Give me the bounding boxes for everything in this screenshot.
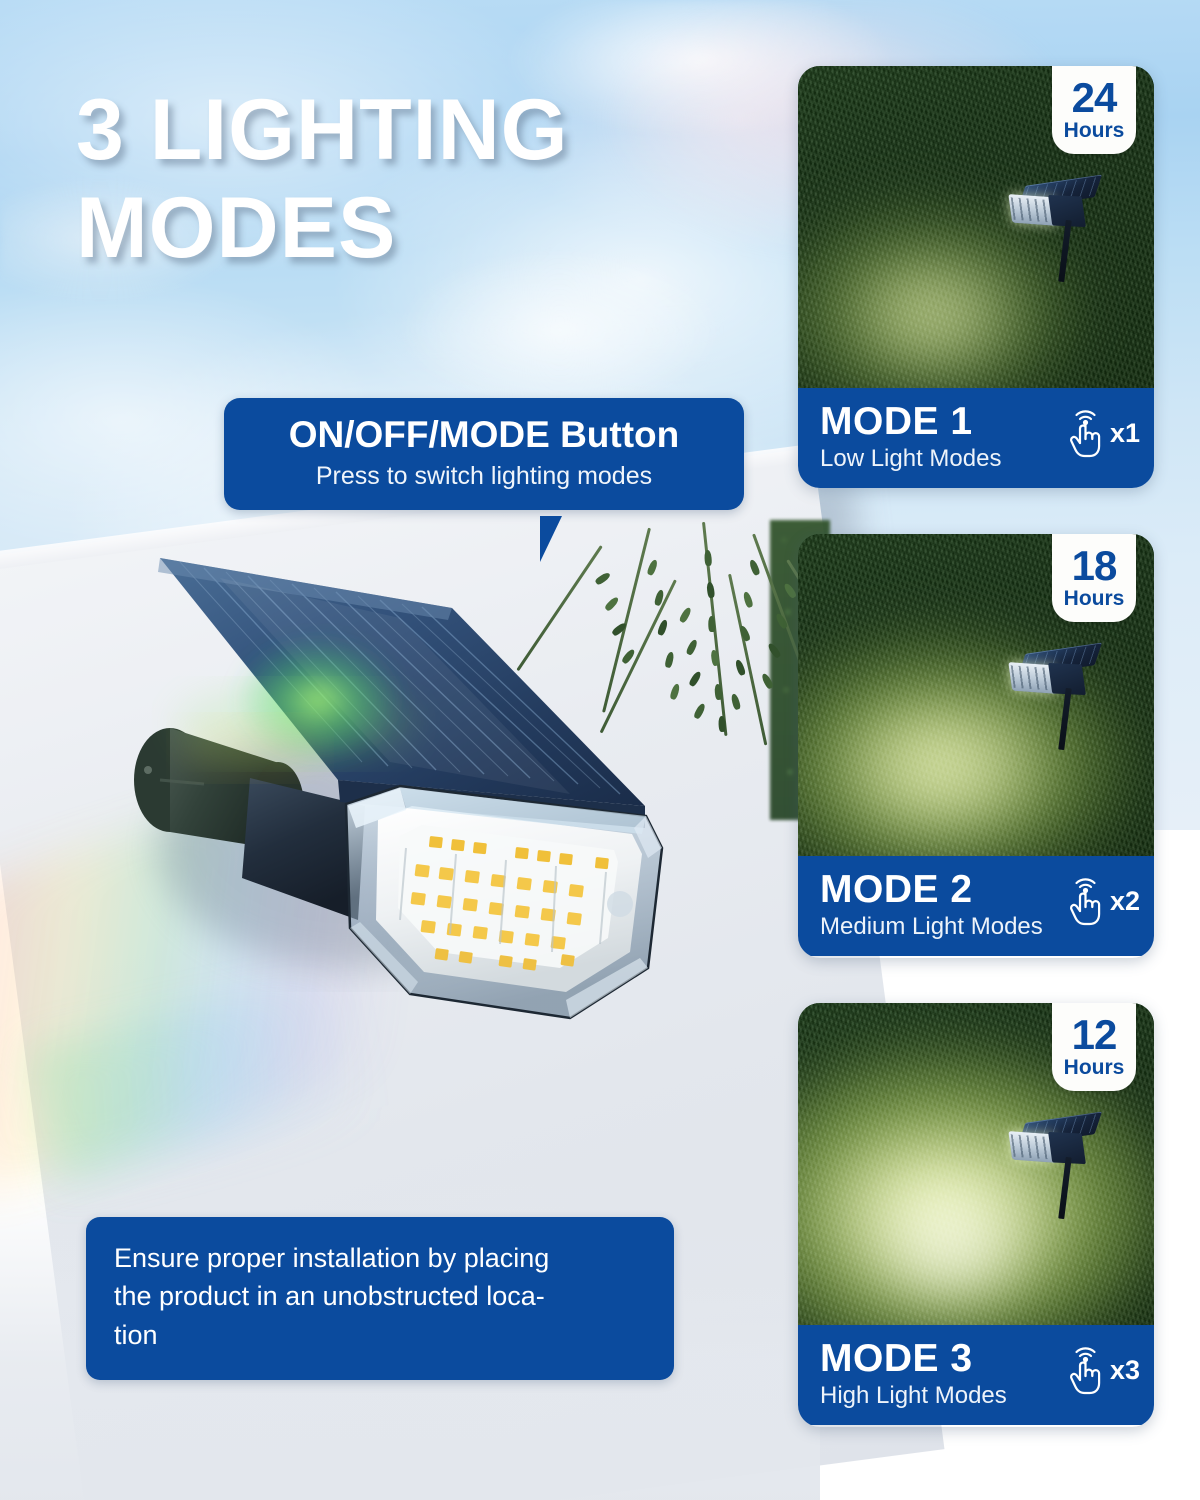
onoff-mode-callout: ON/OFF/MODE Button Press to switch light…	[224, 398, 744, 510]
note-line-3: tion	[114, 1316, 646, 1354]
tap-hand-icon	[1062, 876, 1108, 926]
lawn-photo-mode-2: 18 Hours	[798, 534, 1154, 856]
title-line-2: MODES	[76, 186, 736, 270]
hours-badge-2: 18 Hours	[1052, 534, 1136, 622]
mode-card-3[interactable]: 12 Hours MODE 3 High Light Modes	[798, 1003, 1154, 1427]
fixture-ground-stake	[1058, 220, 1072, 282]
press-count: x2	[1110, 888, 1140, 915]
product-solar-light-image	[100, 548, 720, 1088]
lawn-photo-mode-3: 12 Hours	[798, 1003, 1154, 1325]
title-line-1: 3 LIGHTING	[76, 88, 736, 172]
tap-hand-icon	[1062, 1345, 1108, 1395]
hours-value: 18	[1072, 547, 1117, 586]
mode-label-strip-3: MODE 3 High Light Modes x3	[798, 1325, 1154, 1425]
note-line-1: Ensure proper installation by placing	[114, 1239, 646, 1277]
hours-value: 24	[1072, 79, 1117, 118]
installation-note: Ensure proper installation by placing th…	[86, 1217, 674, 1380]
tap-hand-icon	[1062, 408, 1108, 458]
hours-label: Hours	[1064, 1057, 1125, 1078]
hours-label: Hours	[1064, 120, 1125, 141]
press-count-group-1: x1	[1062, 408, 1140, 458]
callout-subtitle: Press to switch lighting modes	[240, 463, 728, 491]
callout-tail	[540, 516, 570, 562]
press-count: x1	[1110, 420, 1140, 447]
infographic-canvas: 3 LIGHTING MODES ON/OFF/MODE Button Pres…	[0, 0, 1200, 1500]
press-count-group-3: x3	[1062, 1345, 1140, 1395]
spotlight-fixture-icon	[1010, 178, 1102, 288]
callout-title: ON/OFF/MODE Button	[240, 416, 728, 455]
hours-badge-1: 24 Hours	[1052, 66, 1136, 154]
note-line-2: the product in an unobstructed loca-	[114, 1277, 646, 1315]
hours-badge-3: 12 Hours	[1052, 1003, 1136, 1091]
page-title: 3 LIGHTING MODES	[76, 88, 736, 271]
mode-card-2[interactable]: 18 Hours MODE 2 Medium Light Modes	[798, 534, 1154, 958]
press-count-group-2: x2	[1062, 876, 1140, 926]
hours-value: 12	[1072, 1016, 1117, 1055]
led-lens-housing	[346, 786, 662, 1018]
spotlight-fixture-icon	[1010, 646, 1102, 756]
mode-label-strip-1: MODE 1 Low Light Modes x1	[798, 388, 1154, 488]
mode-label-strip-2: MODE 2 Medium Light Modes x2	[798, 856, 1154, 956]
spotlight-fixture-icon	[1010, 1115, 1102, 1225]
fixture-ground-stake	[1058, 688, 1072, 750]
fixture-ground-stake	[1058, 1157, 1072, 1219]
lawn-photo-mode-1: 24 Hours	[798, 66, 1154, 388]
hours-label: Hours	[1064, 588, 1125, 609]
press-count: x3	[1110, 1357, 1140, 1384]
mode-card-1[interactable]: 24 Hours MODE 1 Low Light Modes	[798, 66, 1154, 488]
